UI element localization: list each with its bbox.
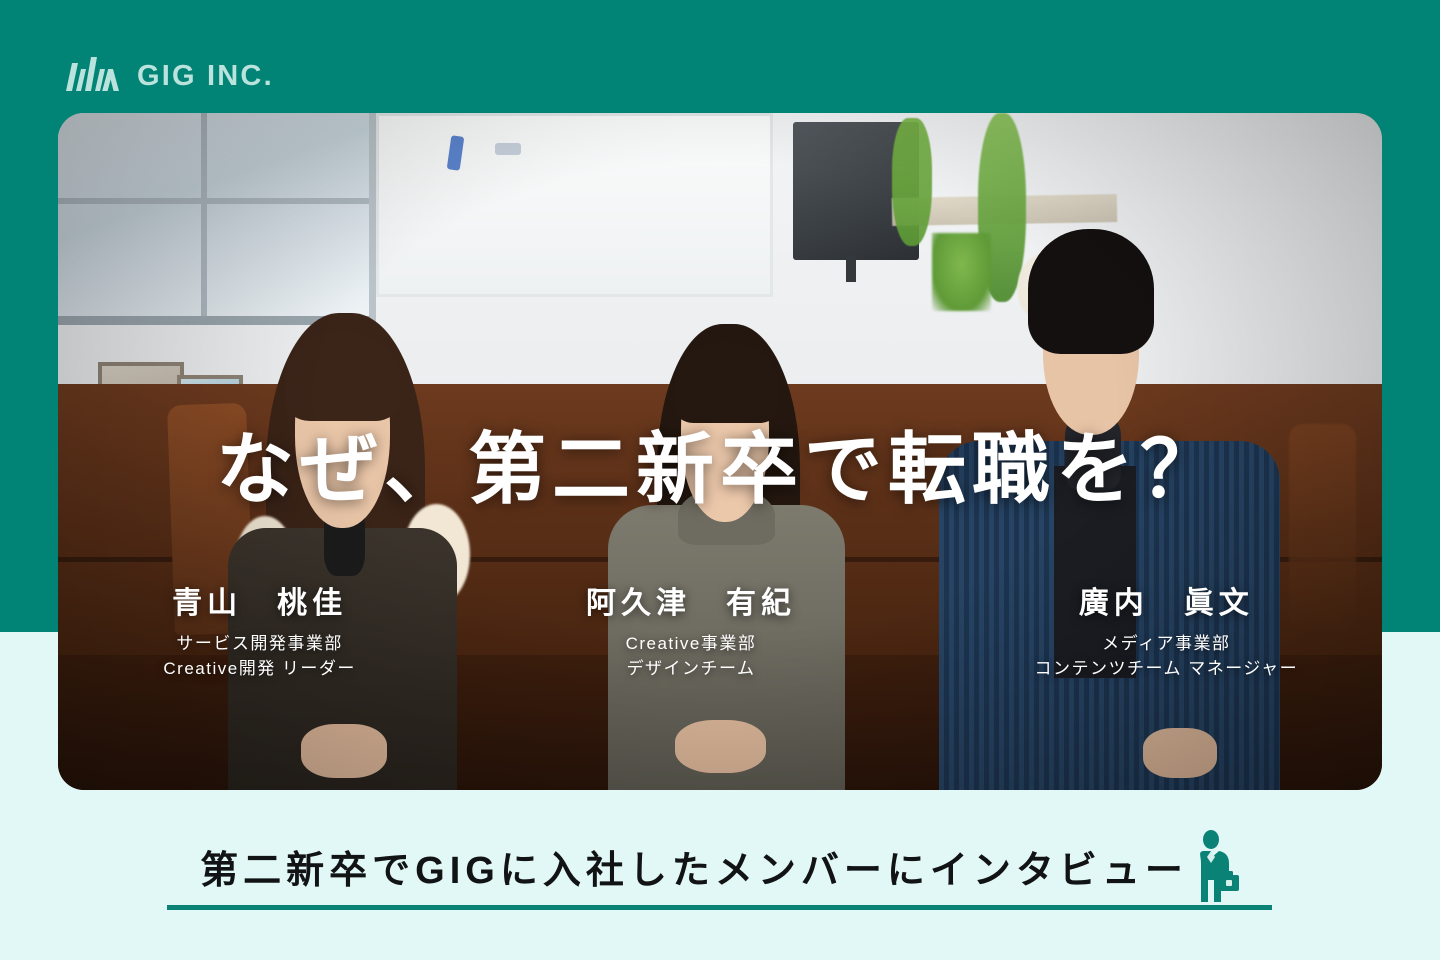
gig-logo[interactable]: GIG INC. — [62, 56, 274, 96]
member-name: 廣内 眞文 — [951, 585, 1382, 623]
member-caption: 廣内 眞文 メディア事業部 コンテンツチーム マネージャー — [951, 585, 1382, 682]
gig-logo-text: GIG INC. — [137, 62, 274, 91]
businessman-briefcase-icon — [1192, 830, 1240, 909]
member-name: 青山 桃佳 — [44, 585, 475, 623]
member-role: Creative開発 リーダー — [44, 656, 475, 682]
footer-caption-row: 第二新卒でGIGに入社したメンバーにインタビュー — [0, 830, 1440, 911]
member-caption-list: 青山 桃佳 サービス開発事業部 Creative開発 リーダー 阿久津 有紀 C… — [58, 585, 1382, 682]
member-department: メディア事業部 — [951, 631, 1382, 657]
member-department: Creative事業部 — [475, 631, 906, 657]
member-role: コンテンツチーム マネージャー — [951, 656, 1382, 682]
member-role: デザインチーム — [475, 656, 906, 682]
member-caption: 青山 桃佳 サービス開発事業部 Creative開発 リーダー — [44, 585, 475, 682]
member-department: サービス開発事業部 — [44, 631, 475, 657]
footer-caption-text: 第二新卒でGIGに入社したメンバーにインタビュー — [200, 852, 1188, 890]
member-name: 阿久津 有紀 — [475, 585, 906, 623]
hero-headline: なぜ、第二新卒で転職を？ — [0, 430, 1440, 508]
footer-divider-rule — [167, 905, 1272, 910]
gig-bars-mark-icon — [62, 57, 120, 96]
member-caption: 阿久津 有紀 Creative事業部 デザインチーム — [475, 585, 906, 682]
